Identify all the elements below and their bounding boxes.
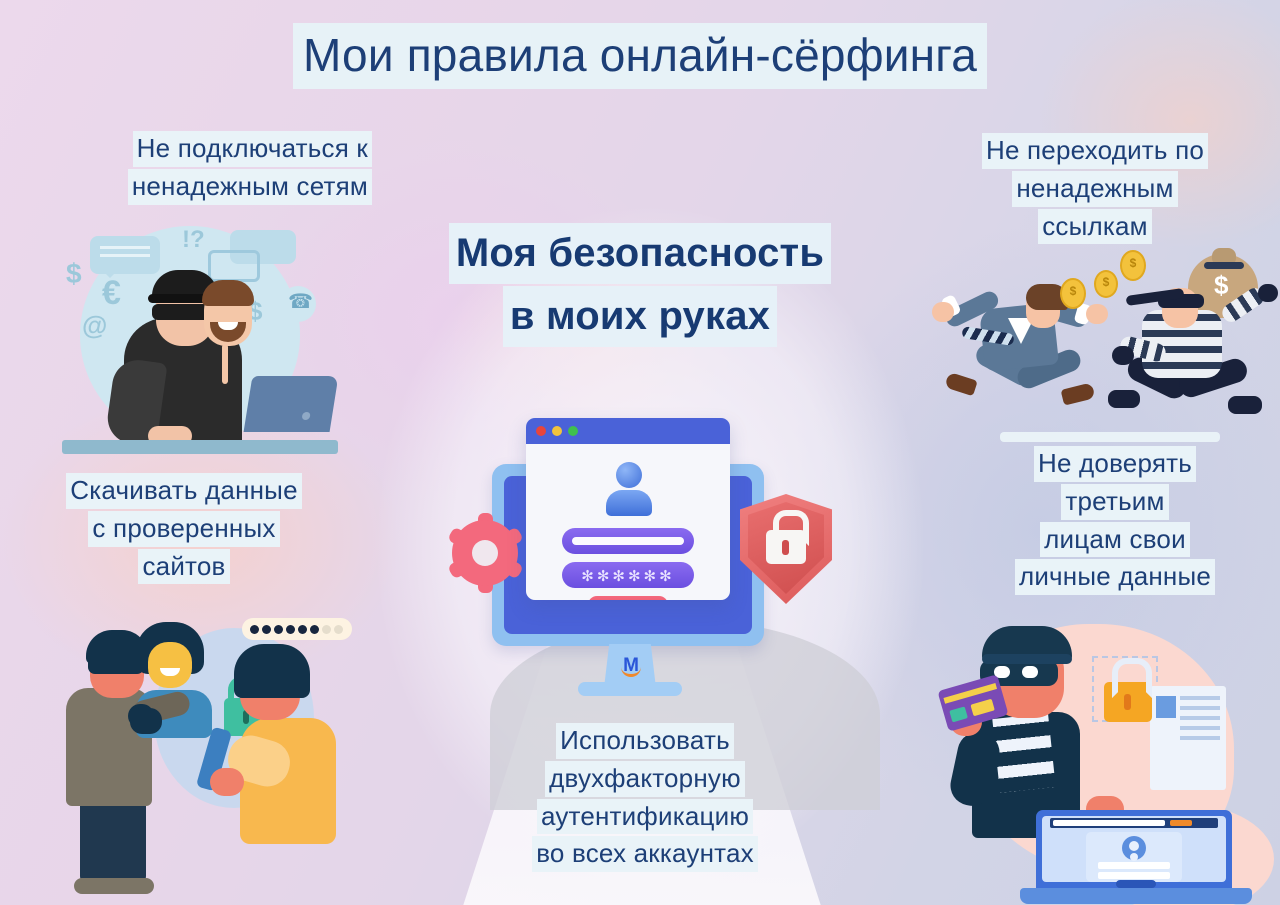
rule-line: аутентификацию (537, 799, 753, 835)
browser-address-bar (1050, 818, 1218, 828)
window-close-dot-icon[interactable] (536, 426, 546, 436)
monitor-stand (578, 682, 682, 696)
rule-line: ненадежным сетям (128, 169, 372, 205)
thief-boot (1228, 396, 1262, 414)
businessman-shoe (1061, 382, 1096, 405)
fake-profile-face (148, 642, 192, 688)
login-submit-button[interactable] (588, 596, 668, 600)
rule-middle-left: Скачивать данные с проверенных сайтов (8, 472, 360, 585)
avatar-icon (1122, 836, 1146, 860)
scammer-legs (80, 798, 146, 884)
rule-line: Не переходить по (982, 133, 1208, 169)
laptop-icon (238, 376, 334, 442)
page-title-text: Мои правила онлайн-сёрфинга (293, 23, 987, 89)
headline-line-1: Моя безопасность (449, 223, 831, 284)
scammer-shoes (74, 878, 154, 894)
lock-icon (766, 530, 806, 564)
rule-top-left: Не подключаться к ненадежным сетям (12, 130, 372, 206)
social-engineering-illustration (44, 612, 336, 902)
window-title-bar (526, 418, 730, 444)
laptop-screen-content (1042, 816, 1226, 882)
victim-hair (234, 644, 310, 698)
rule-line: третьим (1061, 484, 1168, 520)
thief-boot (1108, 390, 1140, 408)
rule-line: сайтов (138, 549, 229, 585)
laptop-icon (1020, 810, 1252, 904)
rule-line: с проверенных (88, 511, 279, 547)
rule-line: Использовать (556, 723, 734, 759)
avatar-head-icon (616, 462, 642, 488)
thief-eye (1022, 666, 1038, 678)
rule-line: ненадежным (1012, 171, 1177, 207)
poster-canvas: !? $ € @ $ (0, 0, 1280, 905)
rule-line: двухфакторную (545, 761, 745, 797)
page-title: Мои правила онлайн-сёрфинга (0, 22, 1280, 90)
rule-line: Скачивать данные (66, 473, 301, 509)
thief-striped-shirt (992, 713, 1055, 792)
rule-bottom-center: Использовать двухфакторную аутентификаци… (455, 722, 835, 873)
mask-handle (222, 344, 228, 384)
avatar-body-icon (606, 490, 652, 516)
rule-middle-right: Не доверять третьим лицам свои личные да… (955, 445, 1275, 596)
laptop-base (1020, 888, 1252, 904)
login-card (1086, 832, 1182, 882)
victim-hand (210, 768, 244, 796)
laptop-lid (244, 376, 339, 432)
password-input[interactable]: ✻✻✻✻✻✻ (562, 562, 694, 588)
fake-profile-hand (130, 708, 162, 734)
desk-surface (62, 440, 338, 454)
rule-line: лицам свои (1040, 522, 1190, 558)
gear-icon (452, 520, 518, 586)
login-window: ✻✻✻✻✻✻ (526, 418, 730, 600)
password-dots-field (242, 618, 352, 640)
login-password-field (1098, 872, 1170, 879)
window-maximize-dot-icon[interactable] (568, 426, 578, 436)
rule-line: ссылкам (1038, 209, 1152, 245)
username-input[interactable] (562, 528, 694, 554)
document-icon (1150, 686, 1226, 790)
login-username-field (1098, 862, 1170, 869)
laptop-notch (1116, 880, 1156, 888)
thief-beanie (982, 626, 1072, 664)
rule-top-right: Не переходить по ненадежным ссылкам (930, 132, 1260, 245)
rule-line: Не подключаться к (133, 131, 372, 167)
monitor-login-illustration: M ✻✻✻✻✻✻ (452, 398, 852, 698)
rule-line: Не доверять (1034, 446, 1196, 482)
businessman-shoe (944, 372, 977, 396)
ground-line (1000, 432, 1220, 442)
rule-line: во всех аккаунтах (532, 836, 758, 872)
laptop-screen (1036, 810, 1232, 888)
headline-line-2: в моих руках (503, 286, 777, 347)
padlock-icon (1104, 682, 1152, 722)
card-thief-illustration (944, 614, 1270, 905)
thief-glove (1112, 346, 1134, 365)
brand-logo-icon: M (620, 656, 642, 678)
rule-line: личные данные (1015, 559, 1215, 595)
window-minimize-dot-icon[interactable] (552, 426, 562, 436)
